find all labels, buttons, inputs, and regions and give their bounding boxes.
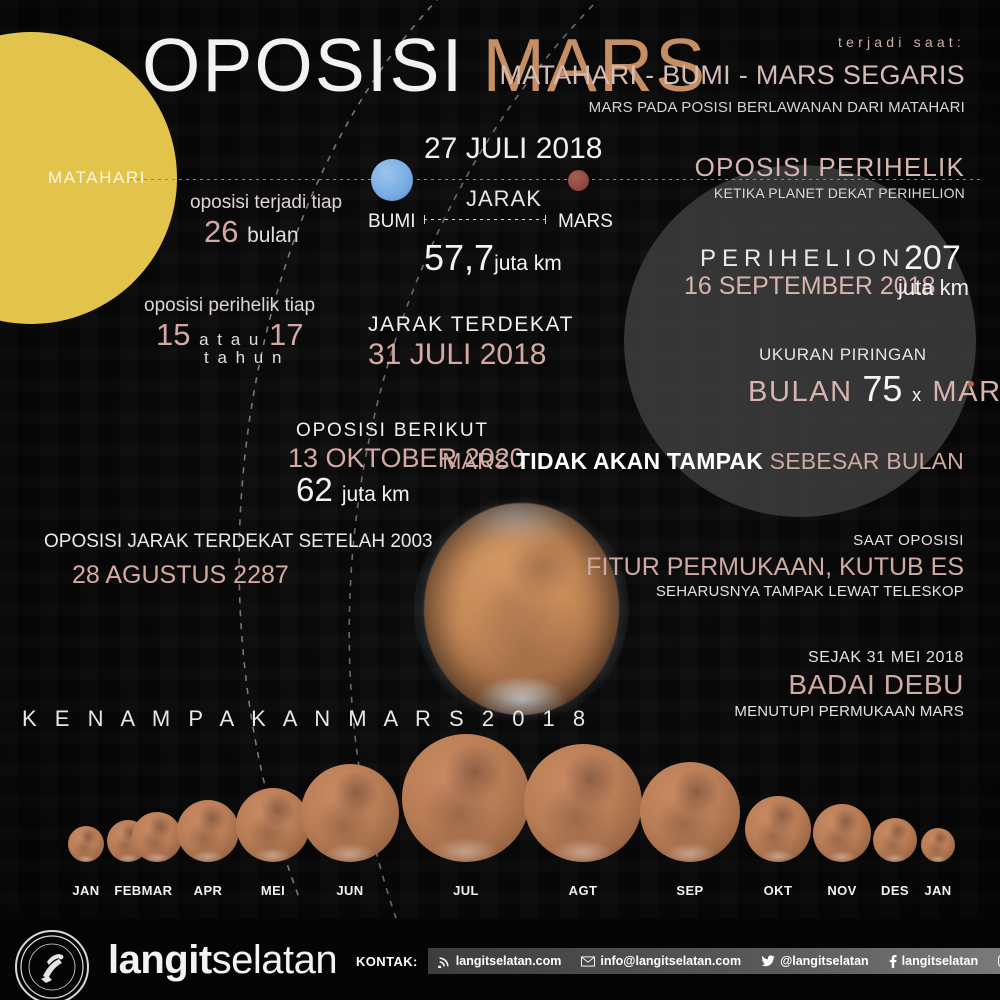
langitselatan-seal-logo [15, 930, 89, 1000]
mars-disc-jun-5 [301, 764, 399, 862]
mars-disc-month-label: JAN [72, 883, 99, 898]
contact-item-rss[interactable]: langitselatan.com [438, 954, 562, 968]
perihelik-years-b: 17 [269, 317, 303, 352]
badai-sub: MENUTUPI PERMUKAAN MARS [734, 703, 964, 720]
notice-emphasis: TIDAK AKAN TAMPAK [516, 448, 763, 474]
distance-measure-bar [424, 219, 546, 220]
header-subline: MARS PADA POSISI BERLAWANAN DARI MATAHAR… [589, 99, 965, 116]
contact-links-strip: langitselatan.cominfo@langitselatan.com@… [428, 948, 1000, 974]
mars-disc-shape [301, 764, 399, 862]
mars-disc-shape [873, 818, 917, 862]
contact-item-twitter[interactable]: @langitselatan [761, 954, 869, 968]
facebook-icon [889, 955, 897, 968]
brand-light: selatan [212, 938, 337, 982]
perihelion-distance-unit: juta km [898, 275, 969, 301]
contact-text: @langitselatan [780, 954, 869, 968]
footer-bar: langitselatan KONTAK: langitselatan.comi… [0, 918, 1000, 1000]
contact-bar: KONTAK: langitselatan.cominfo@langitsela… [356, 948, 1000, 974]
header-kicker: terjadi saat: [838, 34, 965, 50]
notice-part-1: MARS [442, 448, 516, 474]
fitur-kicker: SAAT OPOSISI [853, 532, 964, 549]
perihelik-title: OPOSISI PERIHELIK [695, 152, 965, 183]
perihelik-tiap-label: oposisi perihelik tiap [144, 295, 315, 317]
mars-disc-shape [236, 788, 310, 862]
perihelik-years-a: 15 [156, 317, 190, 352]
contact-text: langitselatan.com [456, 954, 562, 968]
moon-word: BULAN [748, 376, 853, 408]
mars-disc-jan-12 [921, 828, 955, 862]
fitur-title: FITUR PERMUKAAN, KUTUB ES [586, 553, 964, 582]
distance-unit: juta km [494, 252, 562, 275]
mars-disc-apr-3 [177, 800, 239, 862]
distance-readout: 57,7juta km [424, 237, 562, 279]
moon-vs-mars-ratio: BULAN 75 x MARS [748, 368, 1000, 410]
mars-disc-shape [921, 828, 955, 862]
appearance-section-title: K E N A M P A K A N M A R S 2 0 1 8 [22, 706, 591, 732]
berikut-value: 62 [296, 471, 333, 508]
badai-title: BADAI DEBU [788, 669, 964, 701]
perihelik-tiap-unit: t a h u n [204, 348, 283, 368]
infographic-poster: OPOSISIMARS MATAHARI terjadi saat: MATAH… [0, 0, 1000, 1000]
contact-text: langitselatan [902, 954, 978, 968]
jarak-terdekat-label: JARAK TERDEKAT [368, 313, 574, 337]
berikut-unit: juta km [342, 483, 410, 506]
setelah-2003-date: 28 AGUSTUS 2287 [72, 561, 289, 590]
email-icon [581, 956, 595, 967]
badai-kicker: SEJAK 31 MEI 2018 [808, 649, 964, 667]
mars-disc-sep-8 [640, 762, 740, 862]
ratio-multiplier: 75 [862, 368, 902, 409]
mars-disc-month-label: JUN [336, 883, 363, 898]
jarak-terdekat-date: 31 JULI 2018 [368, 338, 546, 372]
kontak-label: KONTAK: [356, 954, 418, 969]
oposisi-berikut-label: OPOSISI BERIKUT [296, 420, 489, 442]
mars-label: MARS [558, 211, 613, 233]
sun-label: MATAHARI [48, 168, 146, 188]
header-headline: MATAHARI - BUMI - MARS SEGARIS [499, 60, 965, 91]
fitur-sub: SEHARUSNYA TAMPAK LEWAT TELESKOP [656, 583, 964, 600]
oposisi-tiap-label: oposisi terjadi tiap [190, 192, 342, 214]
mars-disc-shape [524, 744, 642, 862]
notice-part-2: SEBESAR BULAN [763, 448, 964, 474]
mars-disc-shape [402, 734, 530, 862]
brand-wordmark: langitselatan [108, 938, 337, 983]
tiny-mars-dot-icon [968, 381, 974, 387]
oposisi-tiap-value: 26 [204, 214, 238, 249]
mars-disc-shape [813, 804, 871, 862]
seal-icon [17, 932, 87, 1000]
mars-disc-mar-2 [132, 812, 182, 862]
mars-not-as-big-notice: MARS TIDAK AKAN TAMPAK SEBESAR BULAN [442, 448, 964, 475]
mars-disc-month-label: NOV [827, 883, 856, 898]
mars-disc-nov-10 [813, 804, 871, 862]
times-symbol: x [912, 385, 923, 405]
mars-disc-des-11 [873, 818, 917, 862]
contact-text: info@langitselatan.com [600, 954, 741, 968]
mars-dot [568, 170, 589, 191]
mars-word: MARS [932, 376, 1000, 408]
contact-item-email[interactable]: info@langitselatan.com [581, 954, 741, 968]
oposisi-tiap-value-row: 26 bulan [204, 214, 299, 250]
opposition-date: 27 JULI 2018 [424, 132, 602, 166]
perihelik-conjunction: a t a u [199, 330, 260, 349]
mars-disc-month-label: DES [881, 883, 909, 898]
twitter-icon [761, 955, 775, 967]
mars-disc-jan-0 [68, 826, 104, 862]
perihelik-subtitle: KETIKA PLANET DEKAT PERIHELION [714, 185, 965, 201]
ukuran-piringan-label: UKURAN PIRINGAN [759, 345, 927, 365]
perihelion-word: PERIHELION [700, 245, 905, 273]
distance-value: 57,7 [424, 237, 494, 278]
oposisi-tiap-unit: bulan [247, 224, 298, 247]
mars-disc-month-label: JAN [924, 883, 951, 898]
mars-disc-mei-4 [236, 788, 310, 862]
mars-size-sequence: JANFEBMARAPRMEIJUNJULAGTSEPOKTNOVDESJAN [0, 760, 1000, 910]
setelah-2003-label: OPOSISI JARAK TERDEKAT SETELAH 2003 [44, 531, 433, 553]
rss-icon [438, 955, 451, 968]
earth-label: BUMI [368, 211, 416, 233]
title-word-oposisi: OPOSISI [142, 23, 464, 107]
mars-disc-shape [132, 812, 182, 862]
mars-disc-shape [68, 826, 104, 862]
mars-disc-month-label: FEB [114, 883, 141, 898]
oposisi-berikut-distance: 62 juta km [296, 471, 410, 509]
mars-disc-month-label: MAR [142, 883, 173, 898]
mars-disc-month-label: OKT [764, 883, 793, 898]
mars-disc-okt-9 [745, 796, 811, 862]
mars-disc-jul-6 [402, 734, 530, 862]
contact-item-facebook[interactable]: langitselatan [889, 954, 978, 968]
jarak-label: JARAK [466, 186, 542, 212]
mars-disc-shape [745, 796, 811, 862]
mars-disc-shape [177, 800, 239, 862]
mars-disc-month-label: APR [194, 883, 223, 898]
mars-disc-month-label: JUL [453, 883, 479, 898]
mars-disc-month-label: SEP [676, 883, 703, 898]
earth-dot [371, 159, 413, 201]
mars-disc-month-label: MEI [261, 883, 285, 898]
mars-disc-month-label: AGT [569, 883, 598, 898]
brand-bold: langit [108, 938, 212, 982]
mars-disc-agt-7 [524, 744, 642, 862]
mars-disc-shape [640, 762, 740, 862]
